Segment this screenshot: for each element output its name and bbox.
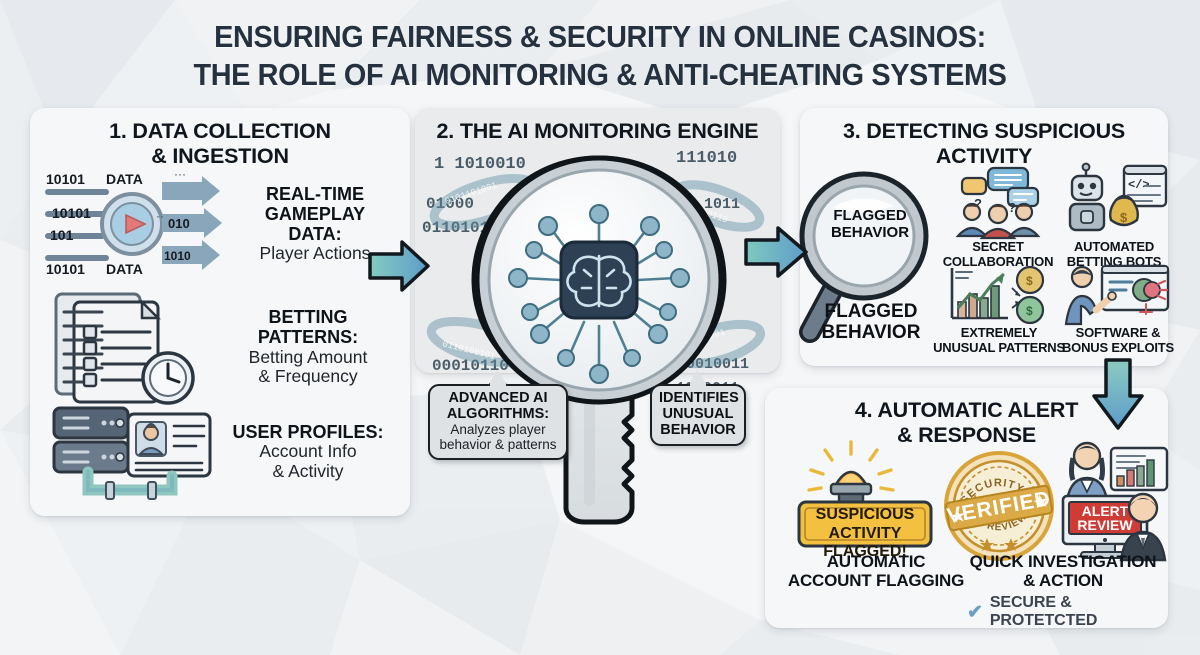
server-id-card-icon (44, 398, 224, 506)
check-icon: ✔ (967, 603, 983, 622)
svg-text:$: $ (1026, 304, 1033, 318)
svg-text:10101: 10101 (52, 205, 91, 221)
svg-text:$: $ (1026, 274, 1033, 288)
svg-text:··: ·· (156, 209, 164, 223)
panel-1-item-2-text: BETTING PATTERNS: Betting Amount & Frequ… (224, 307, 392, 387)
label-extremely-unusual-patterns: EXTREMELY UNUSUAL PATTERNS (932, 326, 1066, 355)
svg-text:$: $ (1120, 210, 1128, 225)
title-line-1: ENSURING FAIRNESS & SECURITY IN ONLINE C… (42, 18, 1158, 56)
panel-data-collection[interactable]: 1. DATA COLLECTION & INGESTION 10101 DAT… (30, 108, 410, 516)
svg-text:10101: 10101 (46, 261, 85, 277)
panel-1-heading: 1. DATA COLLECTION & INGESTION (30, 119, 410, 168)
svg-text:···: ··· (174, 167, 186, 181)
magnifier-flagged-behavior-label: FLAGGED BEHAVIOR (818, 208, 922, 242)
svg-text:1 1010010: 1 1010010 (434, 155, 526, 174)
arrow-3-to-4 (1088, 358, 1150, 430)
secure-protected-badge: ✔ SECURE & PROTETCTED (967, 594, 1168, 630)
page-title: ENSURING FAIRNESS & SECURITY IN ONLINE C… (0, 18, 1200, 94)
secure-protected-label: SECURE & PROTETCTED (990, 594, 1168, 630)
data-stream-icon: 10101 DATA 10101 101 10101 DATA 010 (44, 170, 234, 278)
verified-stamp-icon: SECURITY ALERT AI REVIEWED VERIFIED (943, 450, 1055, 562)
people-chat-bubbles-icon: ?? (950, 166, 1046, 238)
monitor-screen-line-2: REVIEW (1077, 517, 1133, 533)
caption-quick-investigation-action: QUICK INVESTIGATION & ACTION (963, 552, 1163, 591)
label-software-bonus-exploits: SOFTWARE & BONUS EXPLOITS (1058, 326, 1178, 355)
svg-text:DATA: DATA (106, 171, 143, 187)
arrow-2-to-3 (744, 222, 808, 282)
svg-text:?: ? (1008, 200, 1016, 215)
panel-1-item-3-text: USER PROFILES: Account Info & Activity (224, 422, 392, 481)
robot-moneybag-code-icon: </> $ (1068, 164, 1168, 238)
documents-clock-icon (44, 286, 224, 408)
title-line-2: THE ROLE OF AI MONITORING & ANTI-CHEATIN… (42, 56, 1158, 94)
alert-review-monitor-icon: ALERT REVIEW (1051, 436, 1169, 560)
svg-text:010: 010 (168, 216, 190, 231)
rising-chart-coins-icon: $ $ (946, 264, 1050, 326)
svg-text:10101: 10101 (46, 171, 85, 187)
panel-detecting-suspicious-activity[interactable]: 3. DETECTING SUSPICIOUS ACTIVITY FLAGGED… (800, 108, 1168, 366)
caption-automatic-account-flagging: AUTOMATIC ACCOUNT FLAGGING (779, 552, 973, 591)
person-whiteboard-bug-icon (1066, 264, 1170, 326)
panel-3-heading: 3. DETECTING SUSPICIOUS ACTIVITY (800, 119, 1168, 168)
arrow-1-to-2 (368, 236, 430, 296)
svg-text:DATA: DATA (106, 261, 143, 277)
svg-text:111010: 111010 (676, 149, 737, 168)
callout-identifies-unusual-behavior[interactable]: IDENTIFIES UNUSUAL BEHAVIOR (650, 384, 746, 446)
flagged-behavior-label: FLAGGED BEHAVIOR (812, 302, 930, 344)
magnifier-key-brain-circuit-graphic: 1 1010010 01000 01101010 00010110 1 0 10… (418, 130, 780, 530)
svg-text:1010: 1010 (164, 249, 191, 263)
svg-text:101: 101 (50, 227, 74, 243)
callout-advanced-ai-algorithms[interactable]: ADVANCED AI ALGORITHMS: Analyzes player … (428, 384, 568, 460)
